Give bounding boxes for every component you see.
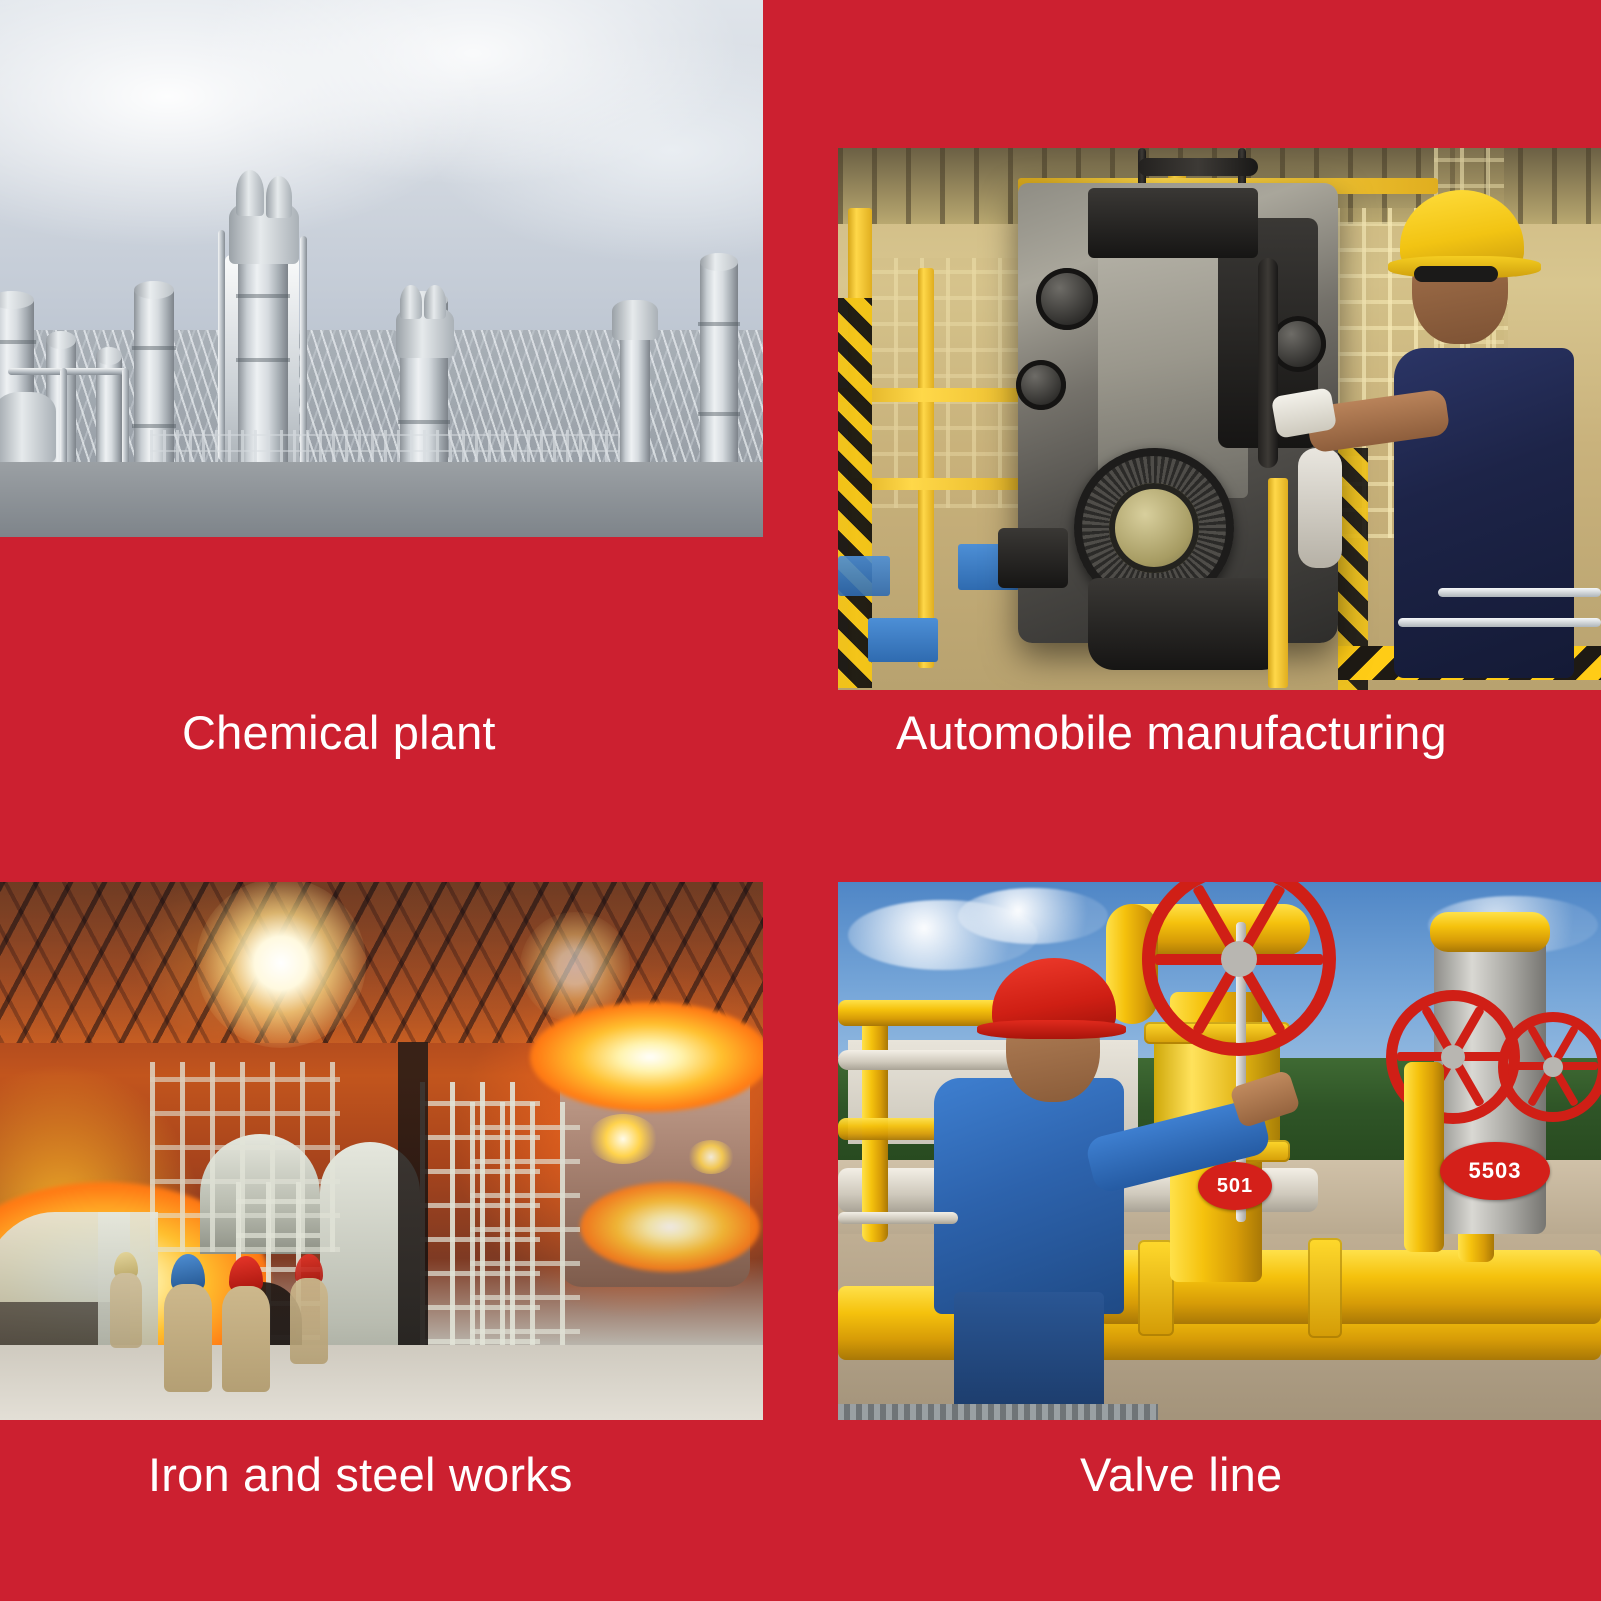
engine-pulley — [1016, 360, 1066, 410]
engine-hose — [1258, 258, 1278, 468]
mill-floor — [0, 1345, 763, 1420]
steel-worker — [222, 1256, 270, 1392]
column-side-pipe — [218, 230, 225, 460]
engine-head-cover — [1088, 188, 1258, 258]
platform-rail — [1398, 618, 1601, 627]
engine-mount-bracket — [998, 528, 1068, 588]
safety-glasses — [1414, 266, 1498, 282]
blue-parts-bin — [868, 618, 938, 662]
blue-parts-bin — [838, 556, 890, 596]
worker-uniform — [164, 1284, 212, 1392]
automobile-manufacturing-photo[interactable] — [838, 148, 1601, 690]
column-top-dome — [236, 170, 264, 216]
column-top-dome — [266, 176, 292, 218]
engine-oil-filter — [1298, 448, 1342, 568]
column-top-dome — [400, 285, 422, 319]
caption-automobile-manufacturing: Automobile manufacturing — [896, 705, 1447, 760]
iron-and-steel-works-photo[interactable] — [0, 882, 763, 1420]
stack-head — [612, 300, 658, 340]
safety-mesh-panel — [868, 258, 1018, 508]
hazard-stripe-column — [838, 298, 872, 688]
engine-pulley — [1270, 316, 1326, 372]
yellow-structure-post — [1268, 478, 1288, 688]
valve-operator-torso — [934, 1078, 1124, 1314]
right-valve-hand-wheel — [1498, 1012, 1601, 1122]
grating-walkway — [838, 1404, 1158, 1420]
worker-uniform — [290, 1278, 328, 1364]
column-top-dome — [424, 285, 446, 319]
pipe-flange — [1138, 1240, 1174, 1336]
wheel-hub — [1543, 1057, 1563, 1077]
valve-operator-legs — [954, 1292, 1104, 1420]
right-valve-bonnet — [1430, 912, 1550, 952]
molten-metal-splash — [580, 1182, 760, 1272]
spark-burst — [688, 1140, 734, 1174]
valve-tag-5503: 5503 — [1440, 1142, 1550, 1200]
gallery-cell-valve-line[interactable]: 501 5503 — [838, 882, 1601, 1542]
cloud — [958, 888, 1108, 944]
chemical-plant-photo[interactable] — [0, 0, 763, 537]
engine-wiring-loom — [1138, 158, 1258, 176]
caption-iron-and-steel-works: Iron and steel works — [148, 1447, 573, 1502]
pipe-flange — [1308, 1238, 1342, 1338]
caption-chemical-plant: Chemical plant — [182, 705, 496, 760]
industry-application-gallery: Chemical plant — [0, 0, 1601, 1601]
steel-worker — [164, 1254, 212, 1392]
handrail — [838, 1212, 958, 1224]
overhead-pipe — [8, 368, 128, 375]
engine-sump — [1088, 578, 1288, 670]
overhead-work-lamp — [196, 882, 366, 1048]
right-valve-yellow-stand — [1404, 1062, 1444, 1252]
gallery-cell-automobile-manufacturing[interactable]: Automobile manufacturing — [838, 148, 1601, 800]
plant-ground — [0, 462, 763, 537]
valve-line-photo[interactable]: 501 5503 — [838, 882, 1601, 1420]
worker-uniform — [222, 1286, 270, 1392]
caption-valve-line: Valve line — [1080, 1447, 1282, 1502]
molten-metal-pour — [530, 1002, 763, 1112]
platform-rail — [1438, 588, 1601, 597]
gallery-cell-chemical-plant[interactable]: Chemical plant — [0, 0, 763, 800]
process-vessel — [0, 392, 56, 462]
valve-tag-501: 501 — [1198, 1162, 1272, 1210]
spark-burst — [588, 1114, 658, 1164]
worker-uniform — [110, 1273, 142, 1348]
gallery-cell-iron-and-steel-works[interactable]: Iron and steel works — [0, 882, 763, 1542]
engine-pulley — [1036, 268, 1098, 330]
yellow-structure-post — [918, 268, 934, 668]
steel-worker — [290, 1254, 328, 1364]
steel-worker — [110, 1252, 142, 1348]
support-framework — [150, 1062, 340, 1252]
